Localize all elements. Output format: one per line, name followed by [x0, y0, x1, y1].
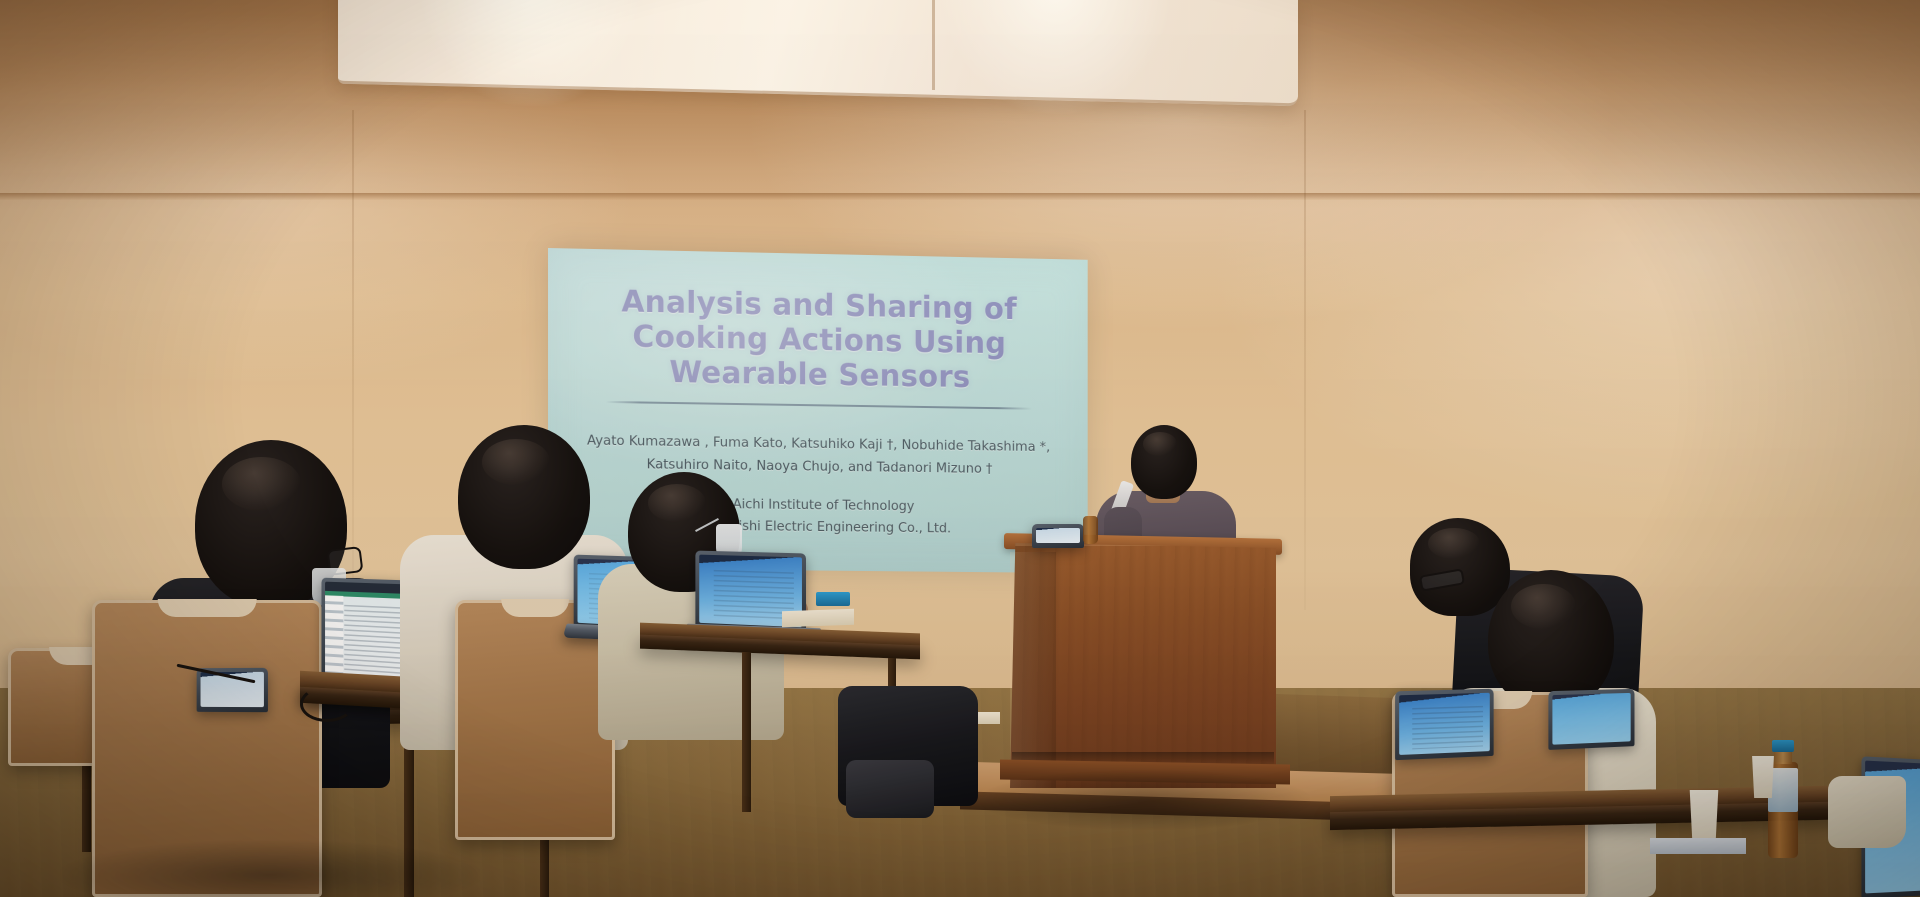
- laptop-5-lid: [1548, 689, 1634, 750]
- papers-on-mid-table: [782, 609, 854, 628]
- attendee3-hair-highlight: [648, 484, 706, 522]
- presenter-hair-highlight: [1143, 432, 1177, 456]
- blue-case-on-table: [816, 592, 850, 606]
- backpack-front-pocket: [846, 760, 934, 818]
- laptop-5-screen: [1552, 693, 1630, 745]
- slide-title-line-3: Wearable Sensors: [621, 355, 1016, 396]
- table-mid-leg-a: [742, 652, 751, 812]
- laptop-1-screen-sidebar: [325, 596, 343, 683]
- ceiling-light-glow-left: [420, 0, 640, 109]
- presenter-water-bottle: [1083, 516, 1098, 544]
- presenter-face: [1140, 455, 1188, 495]
- slide-title: Analysis and Sharing of Cooking Actions …: [621, 286, 1016, 397]
- wall-trim-line: [0, 193, 1920, 200]
- presentation-room-photo: Analysis and Sharing of Cooking Actions …: [0, 0, 1920, 897]
- attendee5-hair-highlight: [1511, 584, 1577, 629]
- chair-mid-left-notch: [501, 599, 569, 617]
- ceiling-panel-seam: [932, 0, 935, 90]
- paper-cup-a: [1750, 756, 1776, 798]
- ceiling-light-glow-right: [940, 0, 1170, 117]
- laptop-4-screen-text: [1412, 706, 1483, 750]
- attendee4-hair-highlight: [1428, 528, 1480, 559]
- presenter-head: [1131, 425, 1197, 499]
- cable-loop: [300, 686, 354, 722]
- laptop-4-lid: [1395, 689, 1493, 761]
- chair-front-left[interactable]: [92, 600, 322, 897]
- laptop-4-screen: [1399, 693, 1490, 755]
- laptop-podium-lid: [1032, 524, 1084, 548]
- tea-bottle-cap: [1772, 740, 1794, 752]
- attendee2-head: [458, 425, 590, 569]
- attendee2-hair-highlight: [482, 439, 551, 485]
- laptop-podium-screen: [1036, 528, 1080, 543]
- slide-divider-rule: [605, 401, 1032, 410]
- folded-cloth: [1828, 776, 1906, 848]
- wall-seam-right: [1304, 110, 1306, 610]
- attendee1-hair-highlight: [222, 457, 301, 511]
- paper-cup-b: [1687, 790, 1721, 844]
- chair-front-left-notch: [158, 599, 257, 617]
- notebook-right: [1650, 838, 1746, 854]
